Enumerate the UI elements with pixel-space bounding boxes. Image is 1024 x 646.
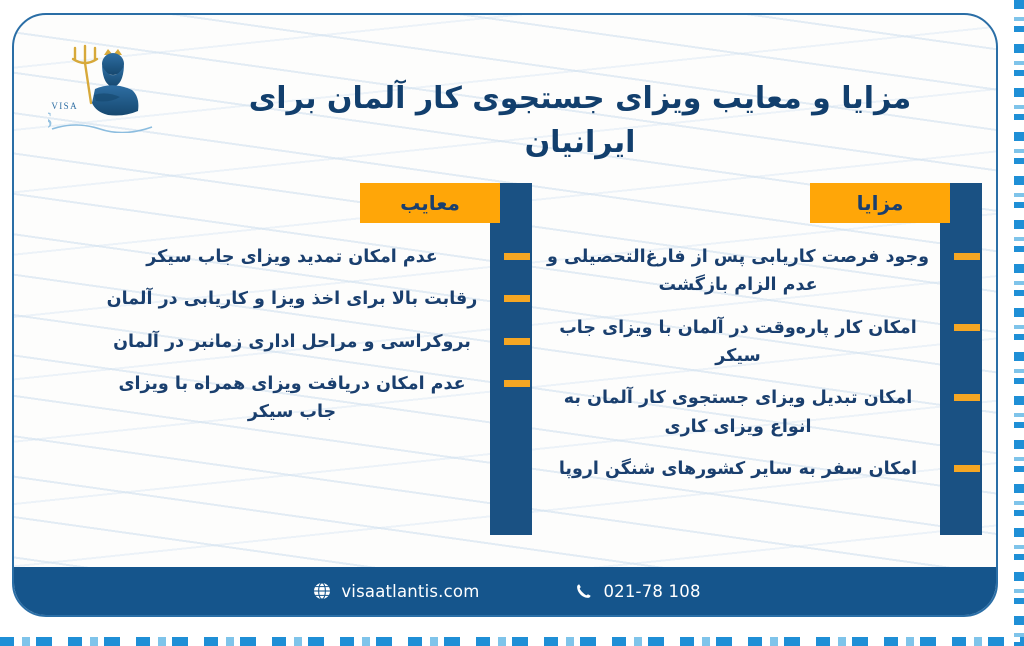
list-item: امکان تبدیل ویزای جستجوی کار آلمان به ان…	[540, 384, 940, 441]
list-item: امکان سفر به سایر کشورهای شنگن اروپا	[540, 455, 940, 483]
advantages-column: مزایا وجود فرصت کاریابی پس از فارغ‌التحص…	[532, 175, 982, 575]
advantages-spine	[940, 183, 982, 535]
list-item: عدم امکان تمدید ویزای جاب سیکر	[98, 243, 490, 271]
list-item: رقابت بالا برای اخذ ویزا و کاریابی در آل…	[98, 285, 490, 313]
disadvantages-header: معایب	[360, 183, 500, 223]
infographic-card: VISA ATLANTIS مزایا و معایب ویزای جستجوی…	[12, 13, 998, 617]
bullet-tick-icon	[954, 465, 980, 472]
list-item-label: وجود فرصت کاریابی پس از فارغ‌التحصیلی و …	[547, 247, 929, 295]
footer-phone-label: 021-78 108	[603, 582, 700, 601]
footer-bar: visaatlantis.com 021-78 108	[14, 567, 998, 615]
list-item-label: امکان کار پاره‌وقت در آلمان با ویزای جاب…	[559, 318, 917, 366]
brand-logo: VISA ATLANTIS	[48, 37, 164, 133]
list-item: عدم امکان دریافت ویزای همراه با ویزای جا…	[98, 370, 490, 427]
infographic-page: VISA ATLANTIS مزایا و معایب ویزای جستجوی…	[0, 0, 1024, 646]
list-item-label: رقابت بالا برای اخذ ویزا و کاریابی در آل…	[107, 289, 478, 309]
footer-website[interactable]: visaatlantis.com	[313, 582, 479, 601]
svg-text:VISA: VISA	[51, 101, 78, 111]
bullet-tick-icon	[954, 253, 980, 260]
footer-phone[interactable]: 021-78 108	[575, 582, 700, 601]
bullet-tick-icon	[954, 324, 980, 331]
disadvantages-spine	[490, 183, 532, 535]
list-item-label: بروکراسی و مراحل اداری زمانبر در آلمان	[113, 332, 471, 352]
bullet-tick-icon	[504, 295, 530, 302]
phone-icon	[575, 582, 593, 600]
list-item: وجود فرصت کاریابی پس از فارغ‌التحصیلی و …	[540, 243, 940, 300]
list-item-label: امکان تبدیل ویزای جستجوی کار آلمان به ان…	[564, 388, 912, 436]
bullet-tick-icon	[504, 338, 530, 345]
list-item: امکان کار پاره‌وقت در آلمان با ویزای جاب…	[540, 314, 940, 371]
globe-icon	[313, 582, 331, 600]
list-item-label: عدم امکان تمدید ویزای جاب سیکر	[146, 247, 438, 267]
advantages-items: وجود فرصت کاریابی پس از فارغ‌التحصیلی و …	[540, 243, 940, 497]
advantages-header: مزایا	[810, 183, 950, 223]
comparison-columns: مزایا وجود فرصت کاریابی پس از فارغ‌التحص…	[14, 175, 998, 575]
bullet-tick-icon	[504, 380, 530, 387]
disadvantages-column: معایب عدم امکان تمدید ویزای جاب سیکر رقا…	[92, 175, 532, 575]
edge-dash-right	[1014, 0, 1024, 646]
footer-website-label: visaatlantis.com	[341, 582, 479, 601]
bullet-tick-icon	[504, 253, 530, 260]
bullet-tick-icon	[954, 394, 980, 401]
edge-dash-bottom	[0, 637, 1024, 646]
disadvantages-items: عدم امکان تمدید ویزای جاب سیکر رقابت بال…	[98, 243, 490, 441]
list-item-label: امکان سفر به سایر کشورهای شنگن اروپا	[559, 459, 917, 479]
list-item-label: عدم امکان دریافت ویزای همراه با ویزای جا…	[118, 374, 465, 422]
page-title: مزایا و معایب ویزای جستجوی کار آلمان برا…	[210, 77, 950, 164]
list-item: بروکراسی و مراحل اداری زمانبر در آلمان	[98, 328, 490, 356]
